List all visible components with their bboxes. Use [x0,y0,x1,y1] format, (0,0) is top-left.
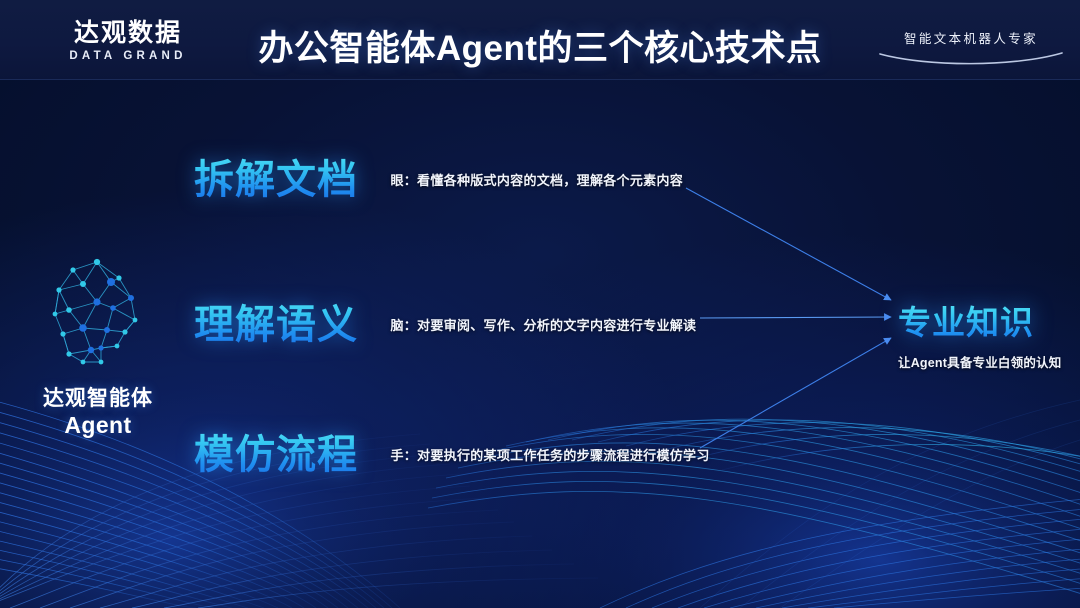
brand-tagline: 智能文本机器人专家 [876,28,1066,47]
header-divider [0,79,1080,80]
network-head-icon [39,258,157,370]
brand-tagline-text: 智能文本机器人专家 [876,28,1066,47]
capability-row-3: 模仿流程 手：对要执行的某项工作任务的步骤流程进行模仿学习 [194,422,710,480]
outcome-block: 专业知识 让Agent具备专业白领的认知 [898,296,1070,371]
slide-canvas: 达观数据 DATA GRAND 办公智能体Agent的三个核心技术点 智能文本机… [0,0,1080,608]
capability-desc-3: 手：对要执行的某项工作任务的步骤流程进行模仿学习 [390,445,709,464]
capability-row-1: 拆解文档 眼：看懂各种版式内容的文档，理解各个元素内容 [194,147,683,205]
outcome-title: 专业知识 [898,296,1070,344]
arrow-to-outcome-3 [700,338,891,448]
arrow-to-outcome-2 [700,317,891,318]
capability-title-3: 模仿流程 [194,422,358,480]
agent-entity: 达观智能体 Agent [18,258,178,438]
tagline-swoosh-icon [878,50,1064,68]
capability-desc-1: 眼：看懂各种版式内容的文档，理解各个元素内容 [390,170,683,189]
capability-desc-2: 脑：对要审阅、写作、分析的文字内容进行专业解读 [390,315,696,334]
capability-row-2: 理解语义 脑：对要审阅、写作、分析的文字内容进行专业解读 [194,292,696,350]
agent-label-en: Agent [18,412,178,438]
outcome-subtitle: 让Agent具备专业白领的认知 [898,352,1070,371]
agent-label-cn: 达观智能体 [18,382,178,412]
capability-title-1: 拆解文档 [194,147,358,205]
capability-title-2: 理解语义 [194,292,358,350]
arrow-to-outcome-1 [686,188,891,300]
